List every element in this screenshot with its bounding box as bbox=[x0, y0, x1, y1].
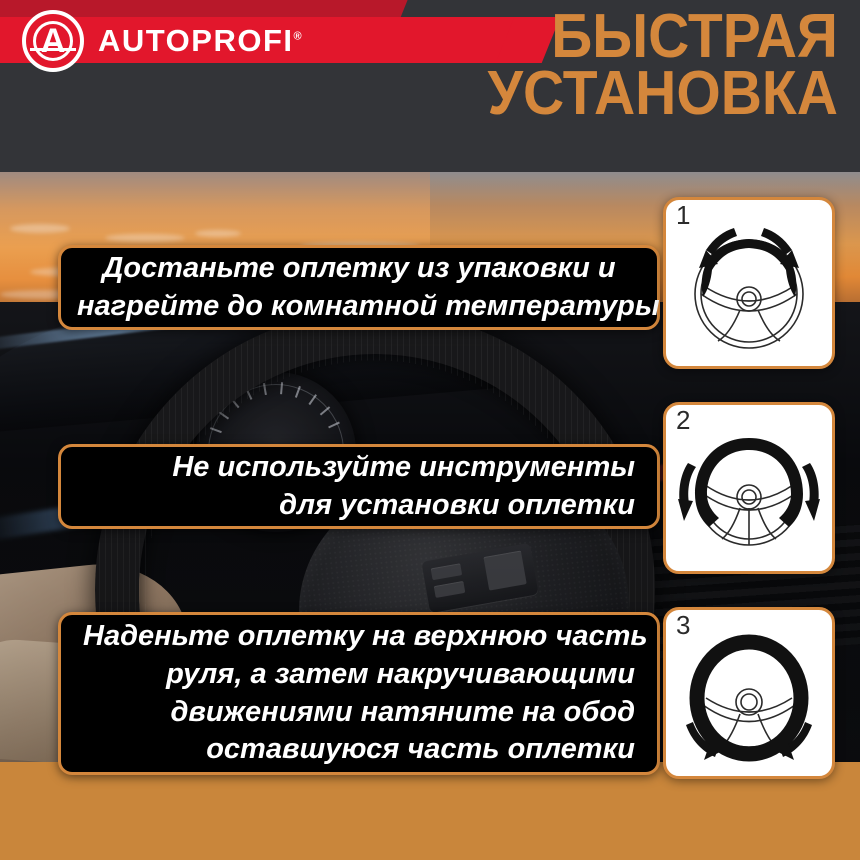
step-2-icon-card: 2 bbox=[663, 402, 835, 574]
registered-mark: ® bbox=[294, 31, 302, 43]
step-1-line-2: нагрейте до комнатной температуры bbox=[77, 288, 641, 326]
autoprofi-emblem-icon: A bbox=[22, 10, 84, 72]
promo-banner: A AUTOPROFI® БЫСТРАЯ УСТАНОВКА bbox=[0, 0, 860, 860]
step-2-line-2: для установки оплетки bbox=[83, 487, 635, 525]
brand-logo: A AUTOPROFI® bbox=[22, 10, 302, 72]
step-3-icon-card: 3 bbox=[663, 607, 835, 779]
step-3-line-3: движениями натяните на обод bbox=[83, 694, 635, 732]
step-3-text-box: Наденьте оплетку на верхнюю часть руля, … bbox=[58, 612, 660, 775]
brand-wordmark: AUTOPROFI® bbox=[98, 23, 302, 59]
brand-wordmark-text: AUTOPROFI bbox=[98, 23, 294, 58]
steering-wheel-cover-full-arrows-inward-icon bbox=[666, 610, 832, 776]
steering-wheel-cover-sides-arrows-down-icon bbox=[666, 405, 832, 571]
step-3-line-1: Наденьте оплетку на верхнюю часть bbox=[83, 618, 635, 656]
step-1-line-1: Достаньте оплетку из упаковки и bbox=[77, 250, 641, 288]
step-2-text-box: Не используйте инструменты для установки… bbox=[58, 444, 660, 529]
page-title-line-1: БЫСТРАЯ bbox=[488, 8, 838, 65]
emblem-bar bbox=[30, 48, 76, 51]
step-3-line-4: оставшуюся часть оплетки bbox=[83, 731, 635, 769]
step-1-text-box: Достаньте оплетку из упаковки и нагрейте… bbox=[58, 245, 660, 330]
step-3-line-2: руля, а затем накручивающими bbox=[83, 656, 635, 694]
page-title: БЫСТРАЯ УСТАНОВКА bbox=[457, 8, 838, 122]
steering-wheel-cover-top-arrows-outward-icon bbox=[666, 200, 832, 366]
page-title-line-2: УСТАНОВКА bbox=[488, 65, 838, 122]
step-2-line-1: Не используйте инструменты bbox=[83, 449, 635, 487]
step-1-icon-card: 1 bbox=[663, 197, 835, 369]
header-bar: A AUTOPROFI® БЫСТРАЯ УСТАНОВКА bbox=[0, 0, 860, 172]
emblem-letter: A bbox=[26, 14, 80, 68]
